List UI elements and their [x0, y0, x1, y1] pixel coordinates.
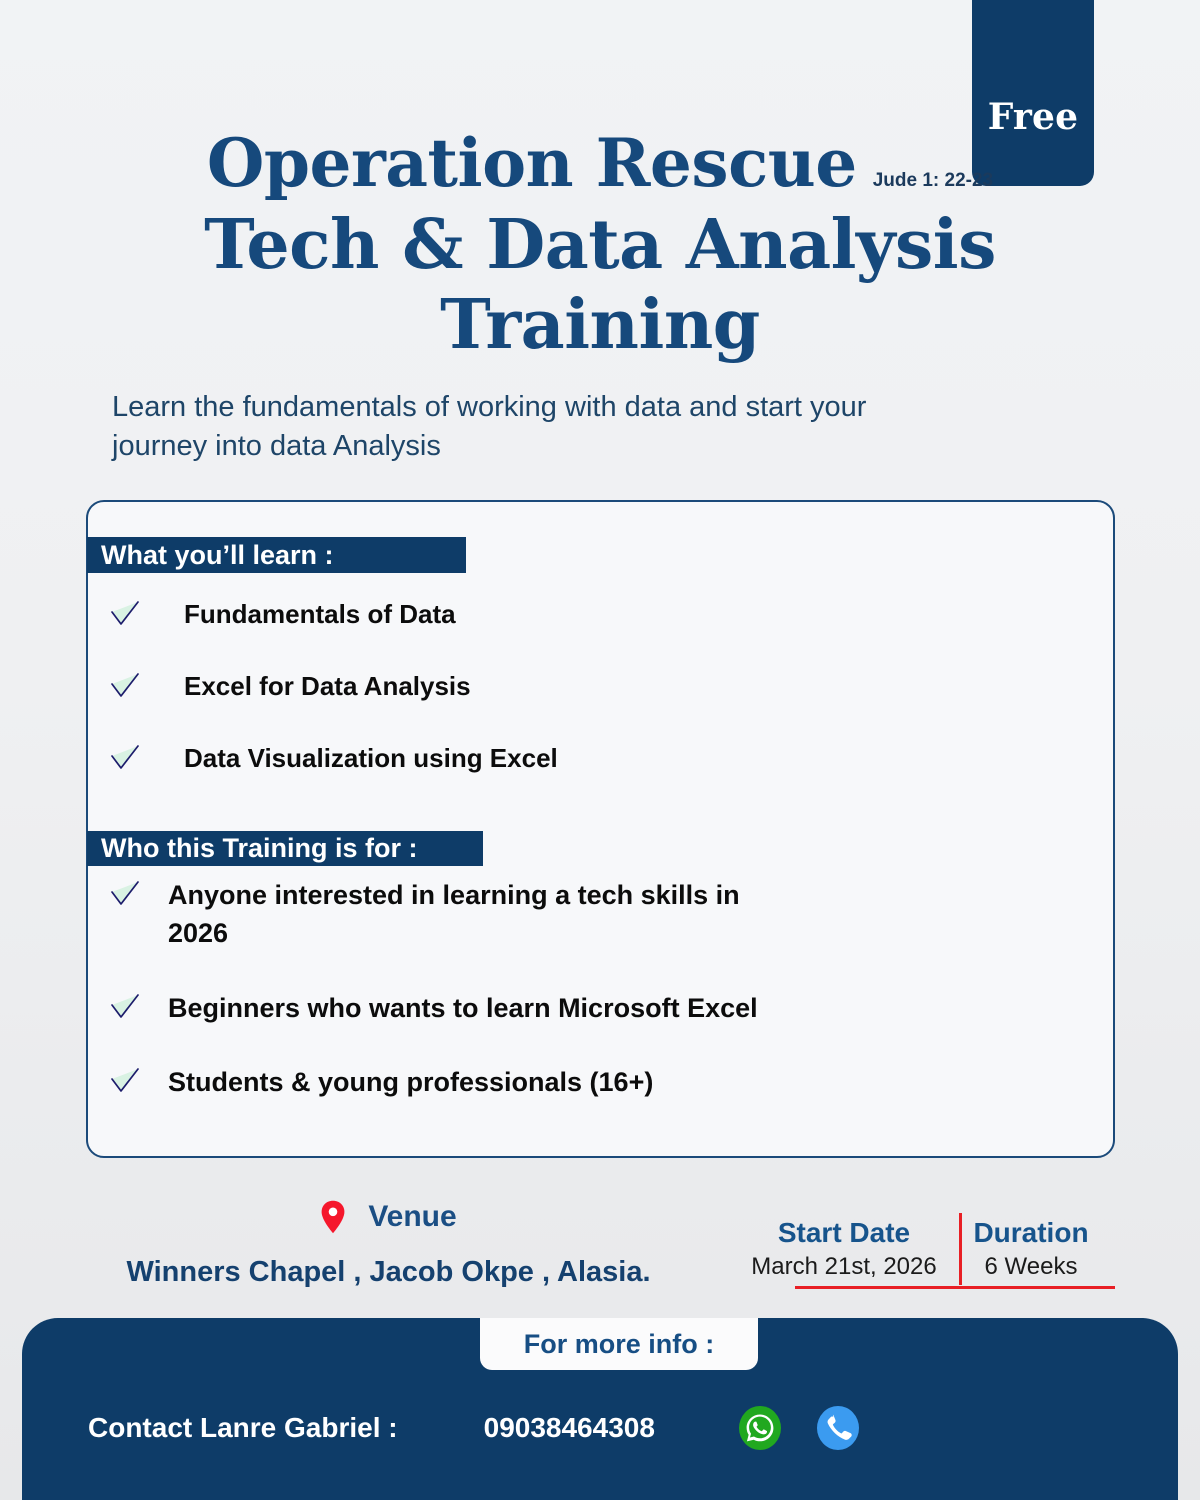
contact-row: Contact Lanre Gabriel : 09038464308 [88, 1405, 861, 1451]
check-icon [108, 741, 142, 775]
learn-list: Fundamentals of Data Excel for Data Anal… [108, 596, 1008, 812]
title-line-2-row: Tech & Data Analysis [0, 211, 1200, 280]
list-item-label: Excel for Data Analysis [184, 668, 471, 705]
title-line-1: Operation Rescue [207, 130, 857, 197]
list-item: Students & young professionals (16+) [108, 1063, 1018, 1101]
poster-header: Operation Rescue Jude 1: 22-23 Tech & Da… [0, 130, 1200, 360]
list-item-label: Fundamentals of Data [184, 596, 456, 633]
location-pin-icon [320, 1200, 346, 1234]
start-date-label: Start Date [744, 1216, 944, 1249]
venue-label: Venue [368, 1200, 456, 1234]
duration-value: 6 Weeks [944, 1253, 1118, 1282]
more-info-badge: For more info : [480, 1318, 758, 1370]
duration-column: Duration 6 Weeks [944, 1216, 1118, 1282]
venue-heading-row: Venue [96, 1200, 681, 1234]
list-item: Excel for Data Analysis [108, 668, 1008, 705]
phone-icon[interactable] [815, 1405, 861, 1451]
check-icon [108, 669, 142, 703]
contact-phone-number[interactable]: 09038464308 [484, 1412, 655, 1444]
section-heading-what-you-learn: What you’ll learn : [87, 537, 466, 573]
section-heading-what-you-learn-label: What you’ll learn : [101, 540, 334, 571]
poster-subtitle: Learn the fundamentals of working with d… [112, 388, 902, 465]
check-icon [108, 877, 142, 911]
check-icon [108, 990, 142, 1024]
list-item: Anyone interested in learning a tech ski… [108, 876, 1018, 953]
check-icon [108, 597, 142, 631]
venue-address: Winners Chapel , Jacob Okpe , Alasia. [96, 1256, 681, 1289]
title-line-3: Training [440, 285, 760, 365]
title-line-1-row: Operation Rescue Jude 1: 22-23 [0, 130, 1200, 197]
start-date-value: March 21st, 2026 [744, 1253, 944, 1282]
list-item: Data Visualization using Excel [108, 740, 1008, 777]
list-item: Beginners who wants to learn Microsoft E… [108, 989, 1018, 1027]
bible-verse-reference: Jude 1: 22-23 [873, 170, 993, 192]
list-item-label: Beginners who wants to learn Microsoft E… [168, 989, 758, 1027]
schedule-underline [795, 1286, 1115, 1289]
list-item-label: Data Visualization using Excel [184, 740, 558, 777]
whatsapp-icon[interactable] [737, 1405, 783, 1451]
more-info-label: For more info : [524, 1329, 715, 1360]
list-item: Fundamentals of Data [108, 596, 1008, 633]
list-item-label: Students & young professionals (16+) [168, 1063, 653, 1101]
schedule-vertical-divider [959, 1213, 962, 1285]
title-line-2: Tech & Data Analysis [204, 205, 996, 285]
section-heading-who-is-for: Who this Training is for : [87, 831, 483, 866]
venue-block: Venue Winners Chapel , Jacob Okpe , Alas… [96, 1200, 681, 1289]
section-heading-who-is-for-label: Who this Training is for : [101, 833, 418, 864]
start-date-column: Start Date March 21st, 2026 [744, 1216, 944, 1282]
social-icons [737, 1405, 861, 1451]
list-item-label: Anyone interested in learning a tech ski… [168, 876, 768, 953]
schedule-block: Start Date March 21st, 2026 Duration 6 W… [744, 1216, 1118, 1282]
audience-list: Anyone interested in learning a tech ski… [108, 876, 1018, 1137]
duration-label: Duration [944, 1216, 1118, 1249]
contact-label: Contact Lanre Gabriel : [88, 1412, 398, 1444]
check-icon [108, 1064, 142, 1098]
title-line-3-row: Training [0, 291, 1200, 360]
